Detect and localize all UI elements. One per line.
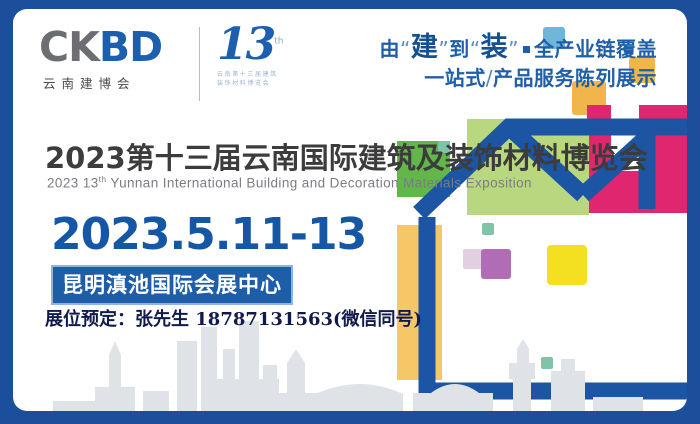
anniversary-number-text: 13 bbox=[217, 19, 274, 70]
poster: CKBD 云南建博会 13th 云南第十三届建筑 装饰材料博览会 由“建”到“装… bbox=[0, 0, 700, 424]
tagline-quote-close-2: ” bbox=[508, 37, 519, 61]
tagline: 由“建”到“装”全产业链覆盖 一站式/产品服务陈列展示 bbox=[380, 31, 658, 91]
anniversary-suffix: th bbox=[274, 36, 283, 46]
tagline-word-zhuang: 装 bbox=[481, 32, 509, 63]
tagline-line1-tail: 全产业链覆盖 bbox=[534, 37, 657, 61]
tagline-mid: 到 bbox=[449, 37, 470, 61]
tagline-line2-pre: 一站式 bbox=[424, 66, 486, 90]
tagline-quote-open-1: “ bbox=[400, 37, 411, 61]
event-date: 2023.5.11-13 bbox=[51, 209, 366, 260]
anniversary-number: 13th bbox=[217, 23, 327, 67]
poster-header: CKBD 云南建博会 13th 云南第十三届建筑 装饰材料博览会 由“建”到“装… bbox=[39, 21, 679, 113]
booth-contact-info: 展位预定：张先生 18787131563(微信同号) bbox=[45, 305, 422, 331]
ckbd-logo: CKBD 云南建博会 bbox=[39, 27, 189, 92]
tagline-line-1: 由“建”到“装”全产业链覆盖 bbox=[380, 31, 658, 65]
logo-chinese-name: 云南建博会 bbox=[39, 73, 189, 92]
logo-text-ck: CK bbox=[39, 23, 99, 71]
page-title-english: 2023 13th Yunnan International Building … bbox=[47, 174, 532, 191]
tagline-quote-open-2: “ bbox=[470, 37, 481, 61]
anniversary-badge: 13th 云南第十三届建筑 装饰材料博览会 bbox=[217, 23, 327, 88]
tagline-line-2: 一站式/产品服务陈列展示 bbox=[380, 65, 658, 91]
title-english-prefix: 2023 13 bbox=[47, 176, 99, 191]
anniversary-subtext: 云南第十三届建筑 装饰材料博览会 bbox=[217, 71, 327, 88]
tagline-pre: 由 bbox=[380, 37, 401, 61]
poster-inner-panel: CKBD 云南建博会 13th 云南第十三届建筑 装饰材料博览会 由“建”到“装… bbox=[13, 9, 687, 411]
tagline-line2-tail: 产品服务陈列展示 bbox=[493, 66, 657, 90]
logo-text-bd: BD bbox=[99, 23, 162, 71]
tagline-quote-close-1: ” bbox=[438, 37, 449, 61]
event-venue: 昆明滇池国际会展中心 bbox=[51, 265, 293, 305]
page-title-chinese: 2023第十三届云南国际建筑及装饰材料博览会 bbox=[45, 135, 648, 177]
title-english-ordinal: th bbox=[99, 174, 107, 184]
poster-content: CKBD 云南建博会 13th 云南第十三届建筑 装饰材料博览会 由“建”到“装… bbox=[13, 9, 687, 411]
anniversary-subtext-line1: 云南第十三届建筑 bbox=[217, 71, 327, 80]
anniversary-subtext-line2: 装饰材料博览会 bbox=[217, 80, 327, 89]
title-english-rest: Yunnan International Building and Decora… bbox=[107, 176, 532, 191]
ckbd-wordmark: CKBD bbox=[39, 27, 189, 68]
tagline-word-jian: 建 bbox=[411, 32, 439, 63]
tagline-bullet-dot bbox=[523, 46, 530, 53]
tagline-slash: / bbox=[486, 66, 493, 90]
header-divider bbox=[199, 27, 200, 101]
